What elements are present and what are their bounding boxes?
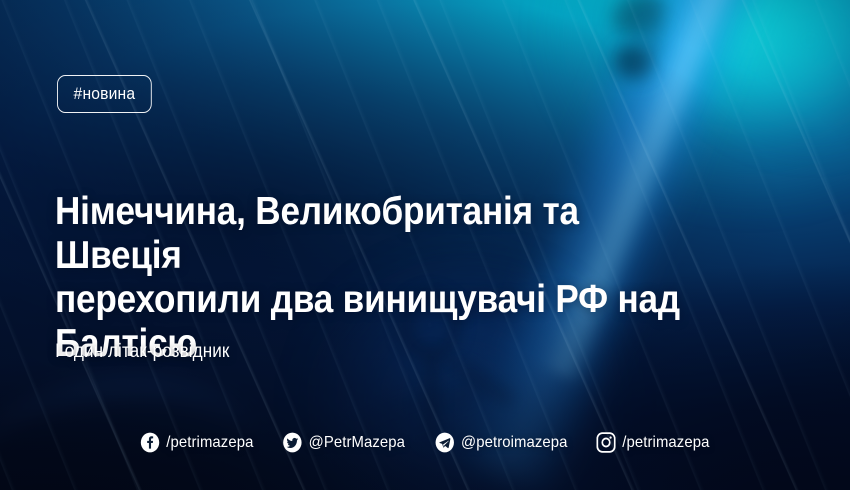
social-handle-instagram: /petrimazepa [622, 434, 709, 452]
telegram-icon [435, 432, 455, 453]
social-link-facebook[interactable]: /petrimazepa [140, 432, 253, 453]
social-handle-twitter: @PetrMazepa [309, 434, 405, 452]
social-handle-telegram: @petroimazepa [461, 434, 567, 452]
poster-content: #новина Німеччина, Великобританія та Шве… [0, 0, 850, 490]
page-title: Німеччина, Великобританія та Швеція пере… [55, 190, 712, 366]
social-link-instagram[interactable]: /petrimazepa [596, 432, 709, 453]
facebook-icon [140, 432, 160, 453]
instagram-icon [596, 432, 616, 453]
news-poster: #новина Німеччина, Великобританія та Шве… [0, 0, 850, 490]
social-link-telegram[interactable]: @petroimazepa [435, 432, 568, 453]
social-link-twitter[interactable]: @PetrMazepa [283, 432, 405, 453]
subtitle: І один літак-розвідник [55, 341, 229, 363]
social-links-bar: /petrimazepa @PetrMazepa @petroimazepa [0, 432, 850, 453]
social-handle-facebook: /petrimazepa [167, 434, 254, 452]
category-badge[interactable]: #новина [57, 75, 152, 113]
twitter-icon [283, 432, 303, 453]
